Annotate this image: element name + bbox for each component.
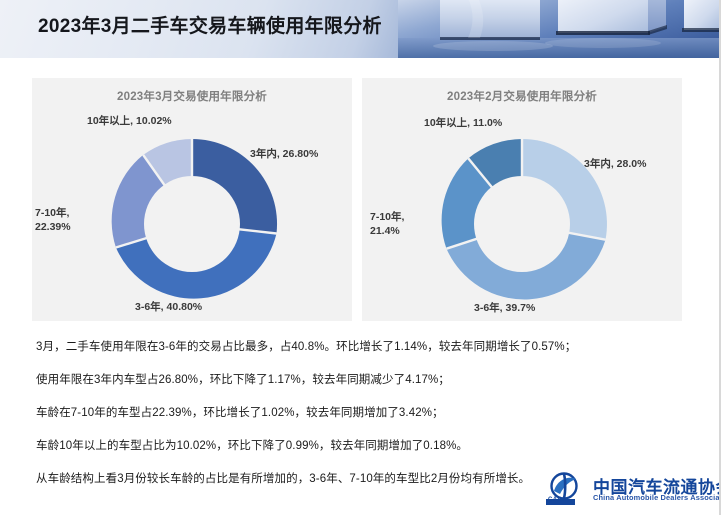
donut-label-march-3to6: 3-6年, 40.80%	[135, 300, 202, 314]
cada-abbreviation: CADA	[548, 497, 567, 503]
logo-name-en: China Automobile Dealers Association	[593, 493, 721, 502]
cada-emblem-icon: CADA	[545, 472, 587, 506]
donut-label-feb-3to6: 3-6年, 39.7%	[474, 301, 535, 315]
donut-label-march-under3: 3年内, 26.80%	[250, 147, 318, 161]
chart-panel-february: 2023年2月交易使用年限分析 10年以上, 11.0	[362, 78, 682, 321]
slide-page: 2023年3月二手车交易车辆使用年限分析 2023年3月交易使用年限分析	[0, 0, 721, 515]
header-banner: 2023年3月二手车交易车辆使用年限分析	[0, 0, 721, 58]
donut-label-march-7to10: 7-10年, 22.39%	[35, 206, 71, 234]
donut-label-march-10plus: 10年以上, 10.02%	[87, 114, 172, 128]
header-decorative-cubes	[398, 0, 721, 58]
donut-label-feb-10plus: 10年以上, 11.0%	[424, 116, 502, 130]
analysis-paragraph-2: 使用年限在3年内车型占26.80%，环比下降了1.17%，较去年同期减少了4.1…	[36, 373, 676, 388]
chart-panel-march: 2023年3月交易使用年限分析 10	[32, 78, 352, 321]
donut-label-feb-7to10: 7-10年, 21.4%	[370, 210, 404, 238]
donut-chart-march	[102, 134, 282, 314]
analysis-paragraph-3: 车龄在7-10年的车型占22.39%，环比增长了1.02%，较去年同期增加了3.…	[36, 406, 676, 421]
page-title: 2023年3月二手车交易车辆使用年限分析	[38, 11, 382, 38]
chart-title-february: 2023年2月交易使用年限分析	[362, 88, 682, 104]
organization-logo: CADA 中国汽车流通协会 China Automobile Dealers A…	[545, 472, 705, 508]
analysis-paragraph-4: 车龄10年以上的车型占比为10.02%，环比下降了0.99%，较去年同期增加了0…	[36, 439, 676, 454]
chart-title-march: 2023年3月交易使用年限分析	[32, 88, 352, 104]
donut-label-feb-under3: 3年内, 28.0%	[584, 157, 646, 171]
analysis-paragraph-1: 3月，二手车使用年限在3-6年的交易占比最多，占40.8%。环比增长了1.14%…	[36, 340, 676, 355]
